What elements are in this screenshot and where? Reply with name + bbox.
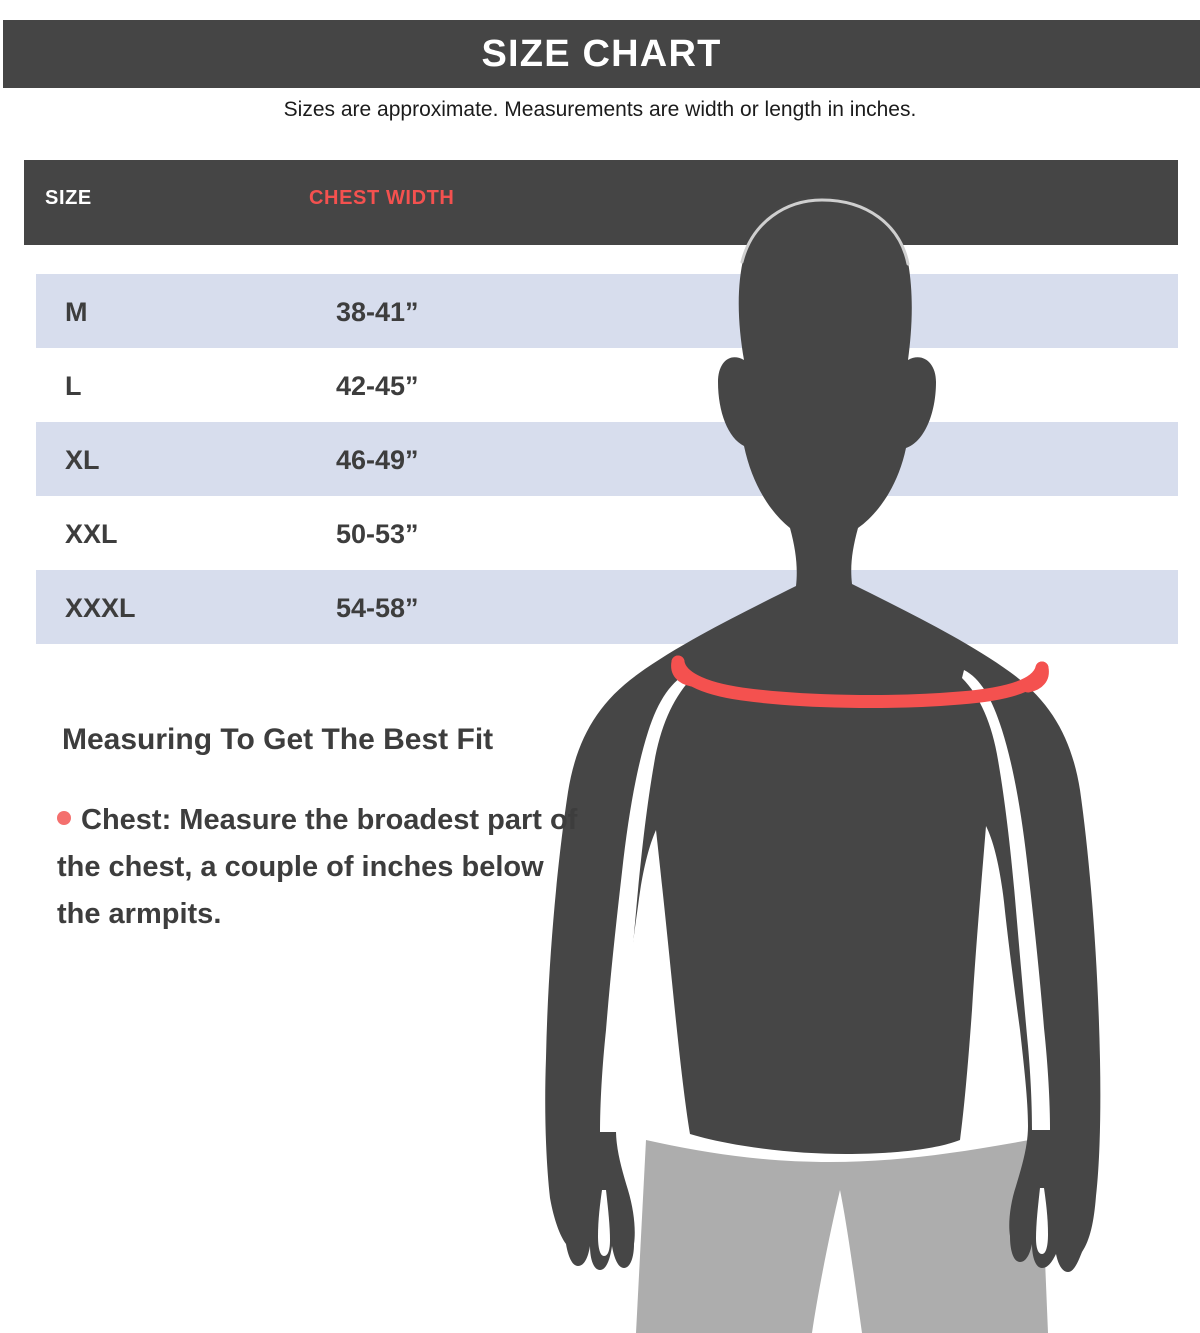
cell-size: L	[65, 371, 82, 402]
table-header-row: SIZE CHEST WIDTH	[24, 160, 1178, 245]
notes-body: Chest: Measure the broadest part of the …	[57, 797, 587, 938]
size-chart-page: SIZE CHART Sizes are approximate. Measur…	[0, 0, 1200, 1333]
cell-size: M	[65, 297, 88, 328]
chest-measure-tape	[678, 662, 1042, 701]
row-background	[36, 422, 1178, 496]
figure-left-thumb-notch	[598, 1190, 610, 1256]
table-row: XXL 50-53”	[0, 496, 1200, 570]
cell-chest: 38-41”	[336, 297, 419, 328]
page-subtitle: Sizes are approximate. Measurements are …	[0, 98, 1200, 122]
row-background	[36, 274, 1178, 348]
notes-bullet-text: Chest: Measure the broadest part of the …	[57, 804, 577, 930]
page-title: SIZE CHART	[482, 33, 722, 76]
table-row: XXXL 54-58”	[0, 570, 1200, 644]
row-background	[36, 570, 1178, 644]
page-title-bar: SIZE CHART	[3, 20, 1200, 88]
cell-size: XXXL	[65, 593, 136, 624]
figure-right-arm-gap	[962, 670, 1050, 1130]
row-background	[36, 496, 1178, 570]
chest-measure-tape-left-hook	[678, 662, 692, 680]
figure-right-thumb-notch	[1036, 1188, 1048, 1254]
chest-measure-tape-right-hook	[1028, 668, 1042, 686]
table-body: M 38-41” L 42-45” XL 46-49” XXL 50-53” X	[0, 274, 1200, 644]
table-row: L 42-45”	[0, 348, 1200, 422]
cell-chest: 50-53”	[336, 519, 419, 550]
cell-size: XXL	[65, 519, 118, 550]
cell-chest: 42-45”	[336, 371, 419, 402]
cell-size: XL	[65, 445, 100, 476]
cell-chest: 54-58”	[336, 593, 419, 624]
column-header-chest: CHEST WIDTH	[309, 187, 454, 210]
column-header-size: SIZE	[45, 187, 92, 210]
figure-left-arm-gap	[600, 672, 690, 1132]
table-row: M 38-41”	[0, 274, 1200, 348]
bullet-dot-icon	[57, 811, 71, 825]
figure-pants	[636, 1138, 1048, 1333]
table-row: XL 46-49”	[0, 422, 1200, 496]
cell-chest: 46-49”	[336, 445, 419, 476]
notes-heading: Measuring To Get The Best Fit	[62, 723, 493, 757]
row-background	[36, 348, 1178, 422]
